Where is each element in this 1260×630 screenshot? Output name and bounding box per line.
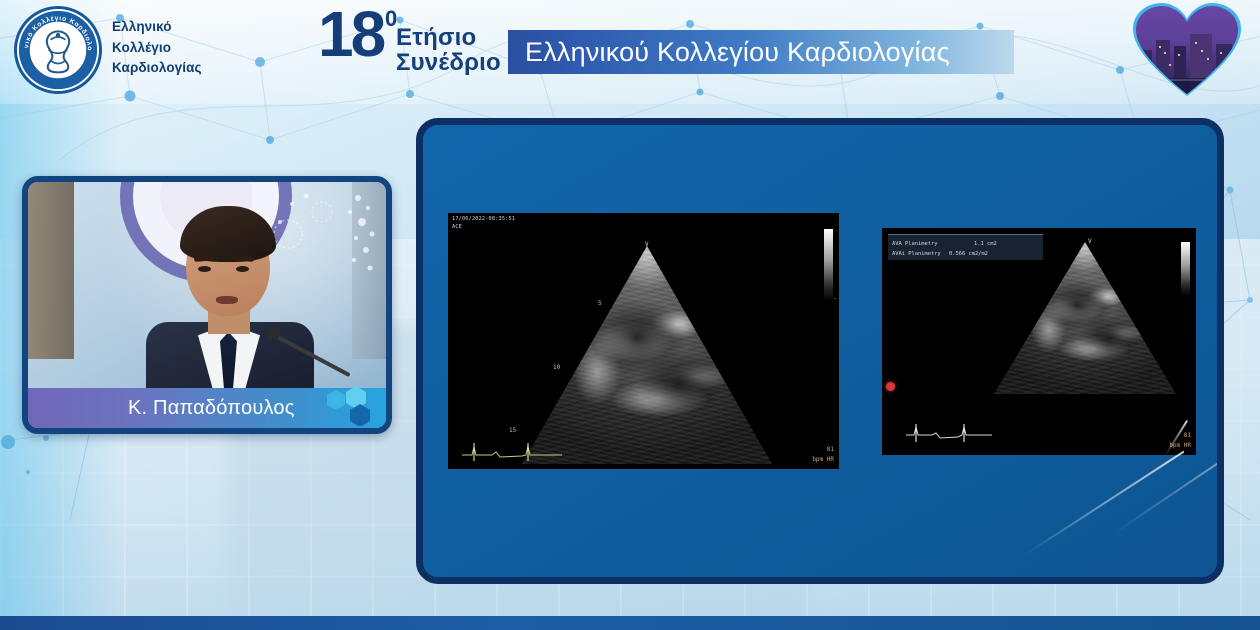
organization-name-line-3: Καρδιολογίας — [112, 58, 202, 79]
broadcast-stage: Ελληνικό Κολλέγιο Καρδιολογίας Ελληνικό … — [0, 0, 1260, 630]
organization-name-line-2: Κολλέγιο — [112, 38, 202, 59]
ultrasound-left-depth-tick-5: 5 — [598, 300, 602, 307]
event-title-banner: Ελληνικού Κολλεγίου Καρδιολογίας — [508, 30, 1014, 74]
ultrasound-left-hr-unit: bpm HR — [812, 455, 834, 464]
organization-name-line-1: Ελληνικό — [112, 17, 202, 38]
ultrasound-left-grayscale-bar — [824, 229, 833, 301]
measurement-label-0: AVA Planimetry — [892, 241, 937, 247]
ultrasound-left-probe-label: ACE — [452, 224, 515, 232]
presentation-slide-panel[interactable]: 17/06/2022-08:35:51 ACE V 5 10 15 - — [416, 118, 1224, 584]
hexagon-decoration-icon — [322, 386, 382, 426]
ultrasound-left-timestamp: 17/06/2022-08:35:51 — [452, 216, 515, 224]
ultrasound-left-apex-marker: V — [645, 241, 649, 248]
organization-name: Ελληνικό Κολλέγιο Καρδιολογίας — [112, 17, 202, 79]
ultrasound-left-ecg-trace — [462, 441, 562, 463]
ultrasound-right-grayscale-bar — [1181, 242, 1190, 296]
event-type-line-2: Συνέδριο — [396, 51, 501, 76]
ultrasound-left-gain-tick: - — [833, 295, 837, 302]
event-title-text: Ελληνικού Κολλεγίου Καρδιολογίας — [508, 37, 950, 68]
ultrasound-left-sector — [522, 246, 772, 464]
background-bottom-bar — [0, 616, 1260, 630]
measurement-label-1: AVAi Planimetry — [892, 251, 941, 257]
stage-curtain-left — [28, 182, 74, 359]
measurement-row-1: AVAi Planimetry 0.566 cm2/m2 — [892, 249, 997, 259]
ultrasound-image-left: 17/06/2022-08:35:51 ACE V 5 10 15 - — [448, 213, 839, 469]
speaker-video-panel[interactable]: Κ. Παπαδόπουλος — [22, 176, 392, 434]
ultrasound-left-depth-tick-10: 10 — [553, 364, 560, 371]
ultrasound-image-right: AVA Planimetry 1.1 cm2 AVAi Planimetry 0… — [882, 228, 1196, 455]
event-type-line-1: Ετήσιο — [396, 26, 501, 51]
ultrasound-right-apex-marker: V — [1088, 238, 1092, 245]
event-type-label: Ετήσιο Συνέδριο — [396, 26, 501, 75]
measurement-value-0: 1.1 cm2 — [941, 239, 997, 249]
hellenic-college-cardiology-seal-icon: Ελληνικό Κολλέγιο Καρδιολογίας — [14, 6, 102, 94]
ultrasound-right-sector — [994, 242, 1176, 394]
heart-cityscape-logo-icon — [1128, 0, 1246, 100]
ultrasound-left-hr-value: 81 — [812, 445, 834, 454]
speaker-nameplate: Κ. Παπαδόπουλος — [28, 388, 386, 428]
speaker-name: Κ. Παπαδόπουλος — [28, 397, 295, 420]
speaker-figure — [140, 204, 320, 414]
measurement-row-0: AVA Planimetry 1.1 cm2 — [892, 239, 997, 249]
ultrasound-left-heart-rate: 81 bpm HR — [812, 445, 834, 464]
ultrasound-right-record-indicator — [886, 382, 895, 391]
background-left-network — [0, 400, 430, 630]
ultrasound-left-header: 17/06/2022-08:35:51 ACE — [452, 216, 515, 232]
measurement-value-1: 0.566 cm2/m2 — [944, 249, 988, 259]
ultrasound-right-ecg-trace — [906, 423, 992, 443]
event-header: Ελληνικό Κολλέγιο Καρδιολογίας Ελληνικό … — [0, 0, 1260, 104]
ultrasound-left-depth-tick-15: 15 — [509, 427, 516, 434]
edition-number: 18 — [318, 2, 383, 66]
